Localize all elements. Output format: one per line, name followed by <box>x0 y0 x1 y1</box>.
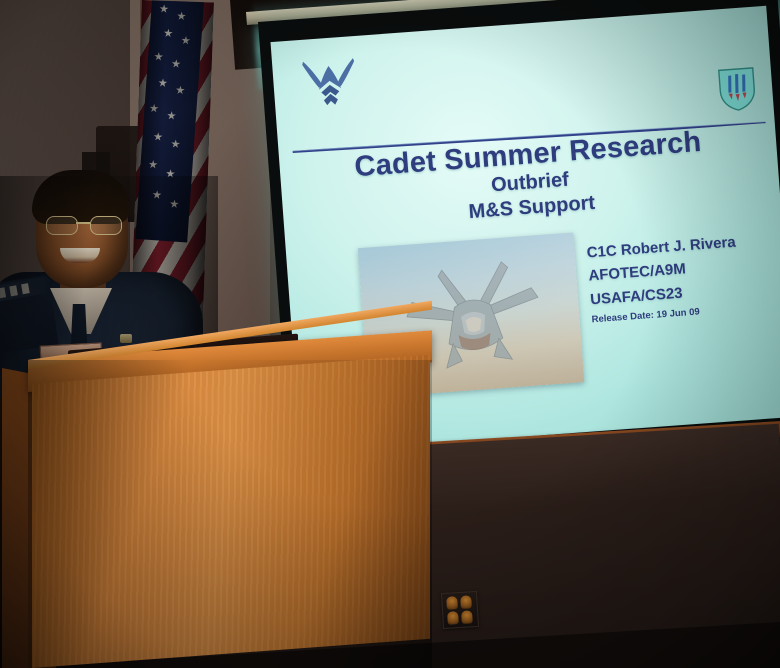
eyeglasses-icon <box>46 216 122 234</box>
air-force-symbol-icon <box>297 54 363 110</box>
cadet-rank-insignia <box>120 334 132 343</box>
quad-electrical-outlet <box>441 591 479 629</box>
speaker-podium <box>28 360 432 668</box>
outlet-socket <box>446 596 458 610</box>
podium-front-panel <box>32 355 430 668</box>
slide-info-block: C1C Robert J. Rivera AFOTEC/A9M USAFA/CS… <box>586 231 741 325</box>
podium-wood-grain <box>32 355 430 668</box>
slide-title-block: Cadet Summer Research Outbrief M&S Suppo… <box>279 121 780 239</box>
afotec-shield-emblem-icon <box>715 65 760 114</box>
outlet-socket <box>447 611 459 625</box>
presentation-photo-scene: Cadet Summer Research Outbrief M&S Suppo… <box>0 0 780 668</box>
outlet-socket <box>461 610 473 624</box>
outlet-socket <box>460 595 472 609</box>
